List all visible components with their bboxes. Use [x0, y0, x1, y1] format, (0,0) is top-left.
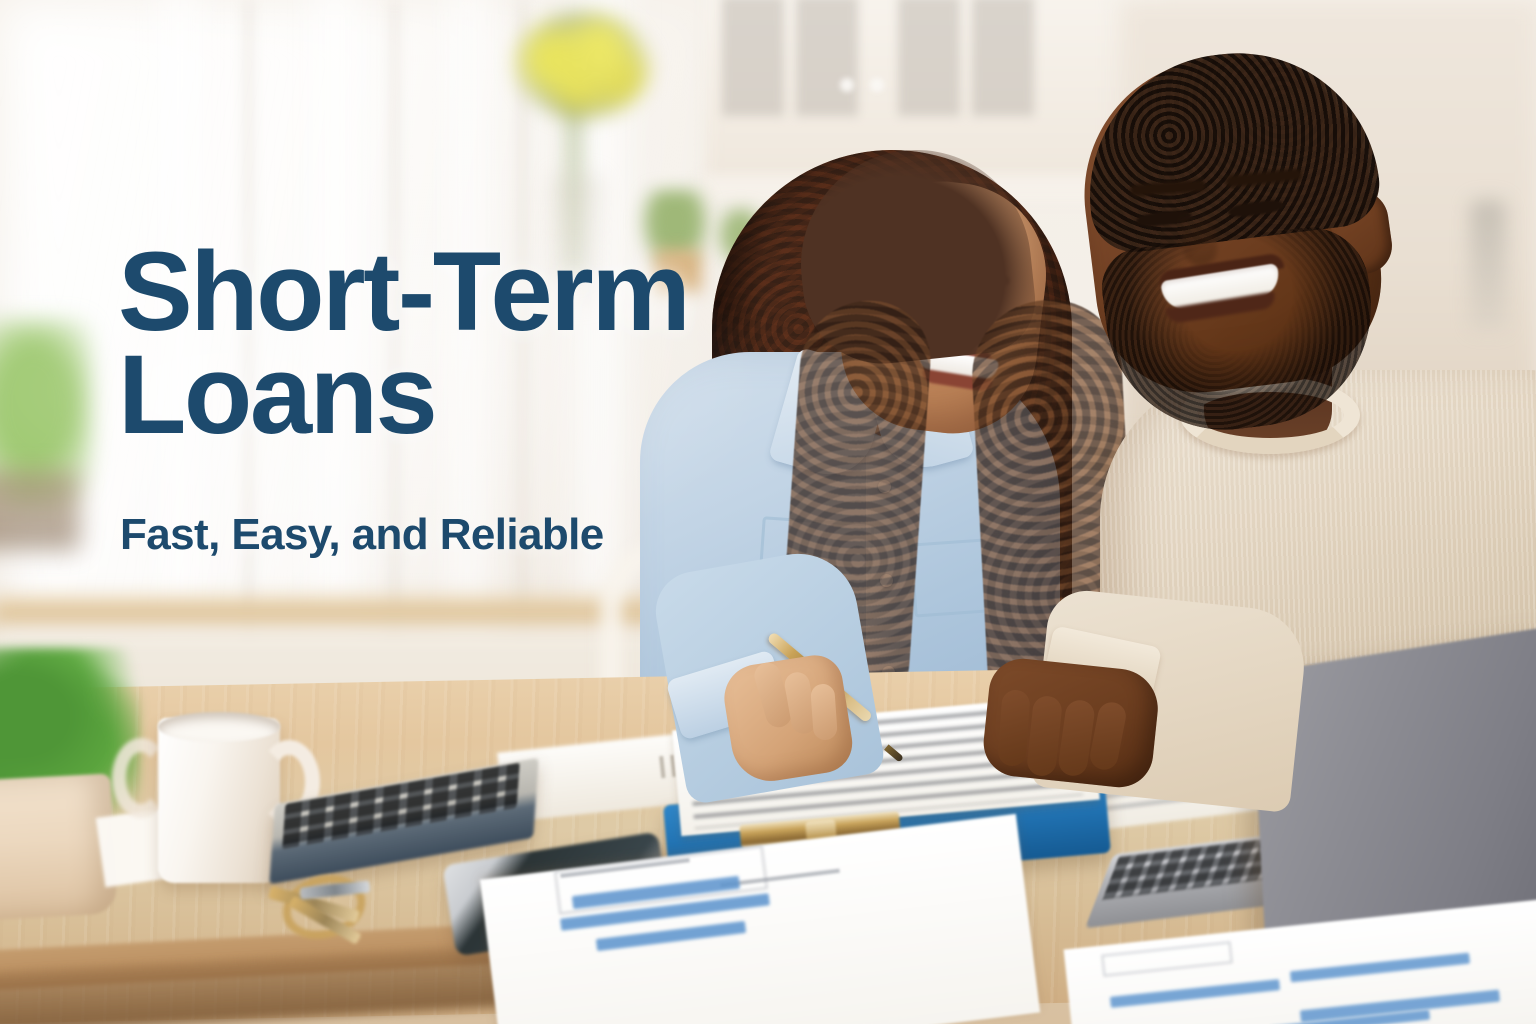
yellow-flowers	[512, 10, 652, 120]
cabinet-glass-pane	[972, 0, 1034, 116]
coffee-mug-rim	[158, 712, 280, 742]
left-plant-pot	[0, 470, 80, 550]
cabinet-knob	[870, 78, 884, 92]
cabinet-glass-pane	[722, 0, 784, 116]
man-finger	[997, 689, 1030, 767]
cabinet-knob	[840, 78, 854, 92]
page-title: Short-Term Loans	[118, 240, 688, 446]
cabinet-glass-pane	[796, 0, 858, 116]
page-subtitle: Fast, Easy, and Reliable	[120, 510, 604, 560]
cabinet-glass-pane	[898, 0, 960, 116]
bottle	[1470, 200, 1506, 330]
woman-finger	[810, 683, 838, 741]
hero-banner: Short-Term Loans Fast, Easy, and Reliabl…	[0, 0, 1536, 1024]
